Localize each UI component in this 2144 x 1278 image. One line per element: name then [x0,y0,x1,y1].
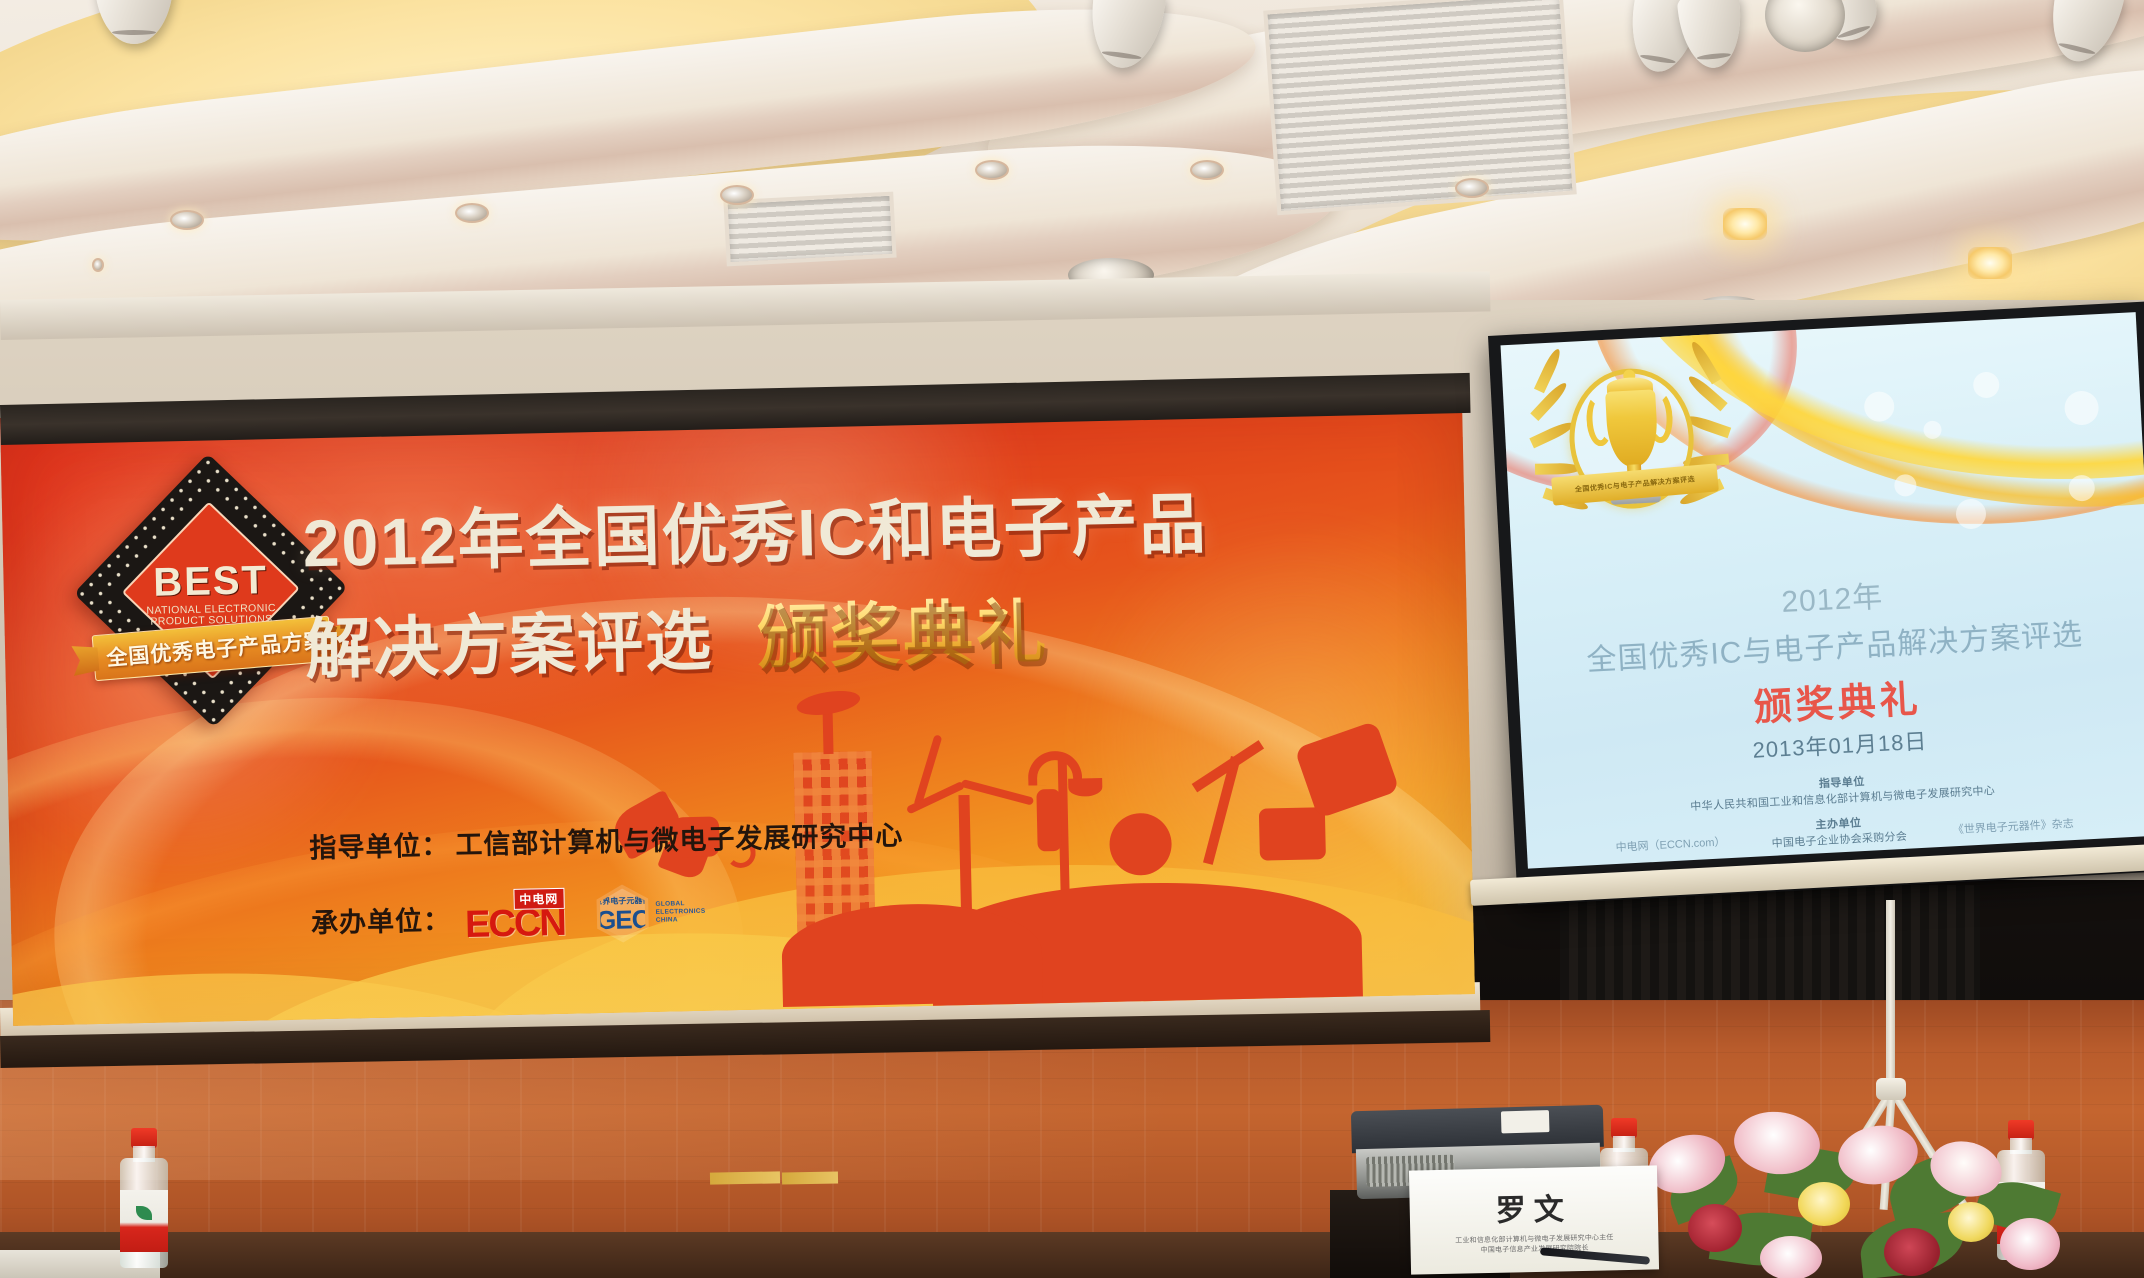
recessed-downlight-icon [455,203,489,223]
eccn-logo-main: ECCN [465,905,565,943]
banner-title: 2012年全国优秀IC和电子产品 解决方案评选 颁奖典礼 [302,487,1211,694]
slide-title-block: 2012年 全国优秀IC与电子产品解决方案评选 颁奖典礼 [1513,558,2144,744]
recessed-downlight-icon [92,258,104,272]
ac-vent-icon [723,192,896,267]
ac-vent-icon [1263,0,1577,215]
best-award-logo: BEST NATIONAL ELECTRONIC PRODUCT SOLUTIO… [93,473,328,708]
gec-logo-tagline: GLOBAL ELECTRONICS CHINA [655,900,705,925]
street-lamp-head-icon [1068,778,1102,797]
ceiling-spotlight-icon [1723,208,1767,240]
flower-arrangement [1648,1108,2068,1278]
gec-hexagon-inner: 世界电子元器件 GEC [596,888,649,939]
bottle-cap [1611,1118,1637,1138]
slide-bubble [2068,474,2095,501]
banner-title-line2a: 解决方案评选 [304,587,714,692]
pink-flower [1760,1236,1822,1278]
gec-tag-line3: CHINA [656,916,706,925]
eccn-logo-cn: 中电网 [513,888,564,910]
ceiling-spotlight-icon [1968,247,2012,279]
banner-guidance-row: 指导单位： 工信部计算机与微电子发展研究中心 [309,813,904,865]
scene-root: BEST NATIONAL ELECTRONIC PRODUCT SOLUTIO… [0,0,2144,1278]
slide-bubble [1894,474,1917,497]
slide-media: 《世界电子元器件》杂志 [1952,803,2074,837]
pink-flower [2000,1218,2060,1270]
slide-bubble [1923,420,1942,439]
slide-host-value: 中国电子企业协会采购分会 [1771,828,1907,851]
excavator-cab-icon [1259,807,1326,860]
recessed-downlight-icon [170,210,204,230]
floor-marker-tape [782,1172,838,1185]
guidance-label: 指导单位： [309,823,450,865]
logo-best-text: BEST [95,559,326,604]
wind-turbine-tower-icon [958,795,972,921]
banner-sponsor-block: 指导单位： 工信部计算机与微电子发展研究中心 承办单位： 中电网 ECCN 世界… [309,813,906,949]
recessed-downlight-icon [1455,178,1489,198]
bottle-label [120,1190,168,1252]
tree-canopy-icon [1109,813,1172,876]
banner-title-row2: 解决方案评选 颁奖典礼 [304,573,1211,694]
tripod-hub [1876,1078,1906,1100]
slide-bubble [1955,498,1987,530]
guidance-value: 工信部计算机与微电子发展研究中心 [455,813,904,862]
recessed-downlight-icon [720,185,754,205]
presentation-slide: 全国优秀IC与电子产品解决方案评选 2012年 全国优秀IC与电子产品解决方案评… [1501,312,2144,869]
red-flower [1688,1204,1742,1252]
projection-screen: 全国优秀IC与电子产品解决方案评选 2012年 全国优秀IC与电子产品解决方案评… [1488,301,2144,905]
slide-site: 中电网（ECCN.com） [1615,821,1726,855]
slide-bubble [1973,371,2000,398]
gec-logo-main: GEC [596,905,650,932]
control-box-icon [1036,789,1061,852]
slide-ribbon-amber [1668,312,2144,526]
eccn-logo: 中电网 ECCN [464,888,565,943]
slide-bubble [2064,390,2100,426]
slide-host-col: 主办单位 中国电子企业协会采购分会 [1770,812,1907,851]
excavator-arm-icon [1294,721,1400,819]
yellow-flower [1798,1182,1850,1226]
slide-bubble [1863,391,1895,423]
event-banner: BEST NATIONAL ELECTRONIC PRODUCT SOLUTIO… [0,386,1475,1026]
logo-text-block: BEST NATIONAL ELECTRONIC PRODUCT SOLUTIO… [95,559,326,628]
yellow-flower [1948,1202,1994,1242]
water-bottle [118,1128,170,1268]
recessed-downlight-icon [1190,160,1224,180]
bottle-cap [131,1128,157,1148]
recessed-downlight-icon [975,160,1009,180]
banner-title-line1: 2012年全国优秀IC和电子产品 [302,487,1208,583]
projector-label [1501,1110,1550,1133]
banner-title-line2b: 颁奖典礼 [756,576,1050,683]
floor-marker-tape [710,1171,780,1184]
wind-turbine-blade-icon [961,779,1035,806]
trophy-emblem: 全国优秀IC与电子产品解决方案评选 [1532,356,1731,546]
organizer-label: 承办单位： [311,898,452,940]
red-flower [1884,1228,1940,1276]
gec-hexagon-icon: 世界电子元器件 GEC [592,884,653,943]
nameplate-name: 罗文 [1495,1184,1572,1230]
gec-logo: 世界电子元器件 GEC GLOBAL ELECTRONICS CHINA [592,883,706,943]
tripod-pole [1886,900,1895,1090]
